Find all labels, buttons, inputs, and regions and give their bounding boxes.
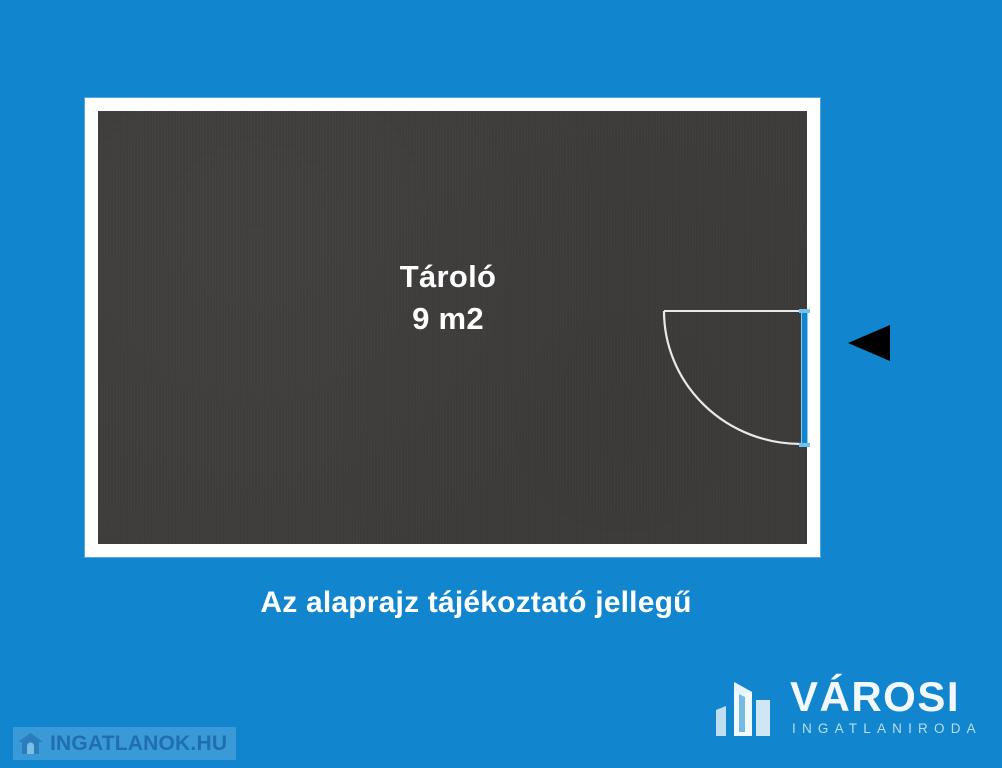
entry-direction-arrow-icon: [848, 325, 890, 361]
door-swing-arc: [664, 311, 801, 444]
logo-text-group: VÁROSI INGATLANIRODA: [790, 676, 982, 735]
building-icon: [712, 670, 784, 742]
floorplan-canvas: Tároló 9 m2 Az alaprajz tájékoztató jell…: [0, 0, 1002, 768]
logo-subtitle: INGATLANIRODA: [792, 721, 982, 736]
watermark-text: INGATLANOK.HU: [50, 733, 227, 754]
agency-logo: VÁROSI INGATLANIRODA: [712, 668, 987, 744]
logo-title: VÁROSI: [790, 676, 982, 717]
floorplan-drawing: Tároló 9 m2: [85, 98, 820, 557]
room-name: Tároló: [98, 259, 798, 295]
disclaimer-caption: Az alaprajz tájékoztató jellegű: [0, 586, 952, 620]
door-opening: [801, 310, 808, 447]
door-swing-icon: [663, 298, 808, 450]
door-jamb-top: [799, 309, 810, 313]
house-icon: [17, 731, 44, 756]
door-jamb-bottom: [799, 443, 810, 447]
door-swing-group: [663, 298, 808, 450]
watermark: INGATLANOK.HU: [13, 727, 236, 760]
